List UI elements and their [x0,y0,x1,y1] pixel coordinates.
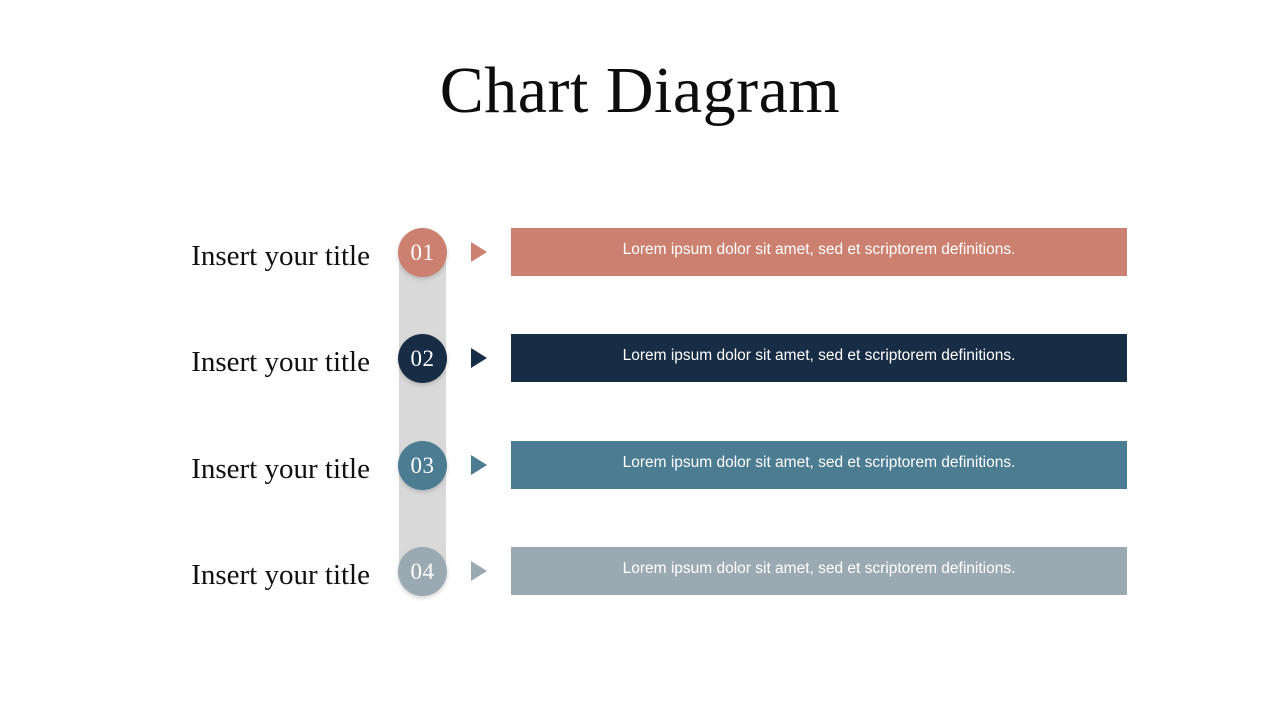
row-number-label-03: 03 [398,441,447,490]
row-title-02: Insert your title [120,334,370,390]
row-title-01: Insert your title [120,228,370,284]
timeline-track [399,238,446,595]
row-description-bar-04[interactable]: Lorem ipsum dolor sit amet, sed et scrip… [511,547,1127,595]
row-description-text-02: Lorem ipsum dolor sit amet, sed et scrip… [511,334,1127,378]
row-number-label-02: 02 [398,334,447,383]
row-title-04: Insert your title [120,547,370,603]
triangle-right-icon [471,455,487,475]
row-description-bar-03[interactable]: Lorem ipsum dolor sit amet, sed et scrip… [511,441,1127,489]
row-description-bar-01[interactable]: Lorem ipsum dolor sit amet, sed et scrip… [511,228,1127,276]
row-title-03: Insert your title [120,441,370,497]
page-title: Chart Diagram [0,58,1280,124]
diagram-row[interactable]: Insert your title 02 Lorem ipsum dolor s… [0,334,1280,390]
row-description-text-01: Lorem ipsum dolor sit amet, sed et scrip… [511,228,1127,272]
row-number-badge-03[interactable]: 03 [398,441,447,490]
triangle-right-icon [471,348,487,368]
row-number-label-04: 04 [398,547,447,596]
row-number-label-01: 01 [398,228,447,277]
row-number-badge-01[interactable]: 01 [398,228,447,277]
row-number-badge-04[interactable]: 04 [398,547,447,596]
diagram-row[interactable]: Insert your title 03 Lorem ipsum dolor s… [0,441,1280,497]
slide-canvas: Chart Diagram Insert your title 01 Lorem… [0,0,1280,720]
row-description-text-03: Lorem ipsum dolor sit amet, sed et scrip… [511,441,1127,485]
triangle-right-icon [471,242,487,262]
triangle-right-icon [471,561,487,581]
row-description-bar-02[interactable]: Lorem ipsum dolor sit amet, sed et scrip… [511,334,1127,382]
diagram-row[interactable]: Insert your title 04 Lorem ipsum dolor s… [0,547,1280,603]
row-description-text-04: Lorem ipsum dolor sit amet, sed et scrip… [511,547,1127,591]
row-number-badge-02[interactable]: 02 [398,334,447,383]
diagram-row[interactable]: Insert your title 01 Lorem ipsum dolor s… [0,228,1280,284]
